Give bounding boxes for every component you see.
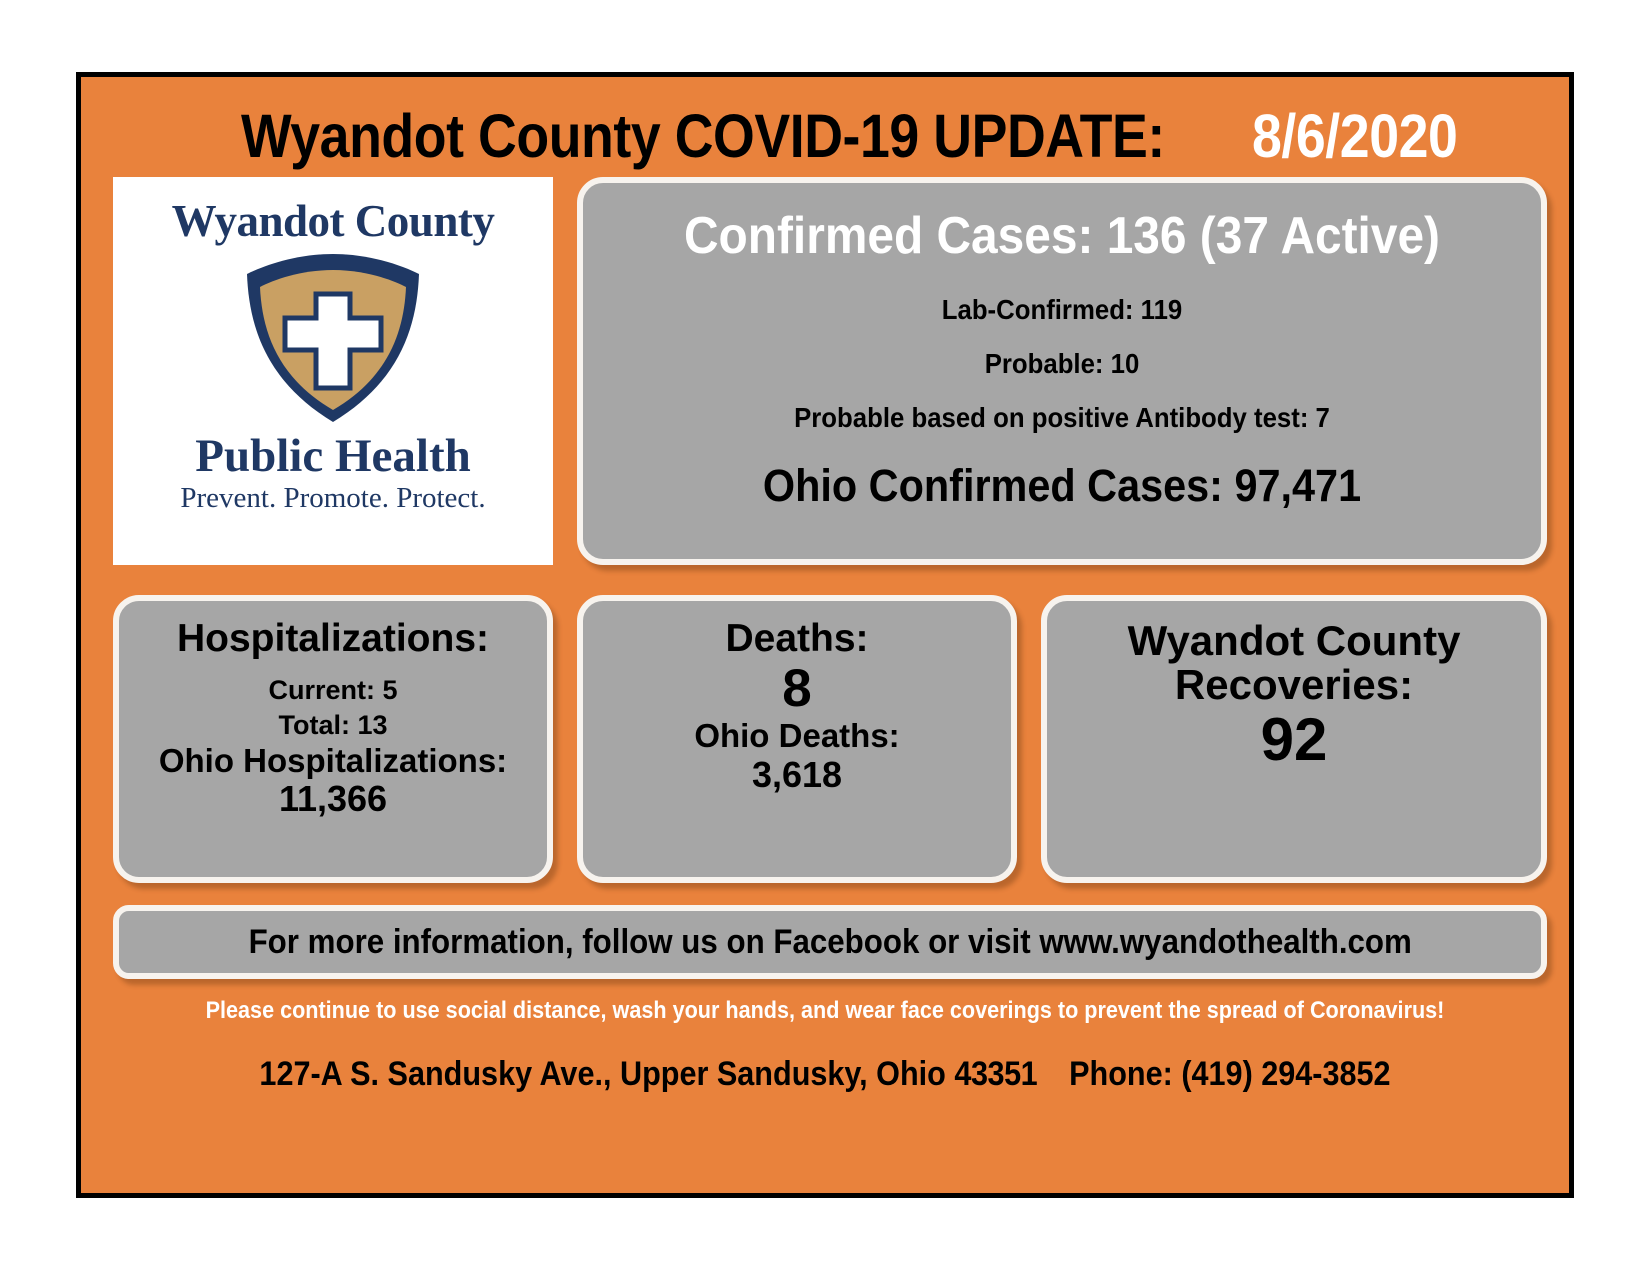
confirmed-cases-card: Confirmed Cases: 136 (37 Active) Lab-Con… bbox=[577, 177, 1547, 565]
logo-line-2: Public Health bbox=[195, 433, 470, 480]
hospitalizations-card: Hospitalizations: Current: 5 Total: 13 O… bbox=[113, 595, 553, 883]
ohio-hospitalizations-label: Ohio Hospitalizations: bbox=[119, 743, 547, 779]
ohio-confirmed-cases-line: Ohio Confirmed Cases: 97,471 bbox=[642, 460, 1483, 512]
recoveries-title-line-1: Wyandot County bbox=[1047, 619, 1541, 663]
lab-confirmed-line: Lab-Confirmed: 119 bbox=[642, 294, 1483, 326]
ohio-deaths-value: 3,618 bbox=[583, 755, 1011, 795]
hospitalizations-title: Hospitalizations: bbox=[119, 619, 547, 660]
contact-phone: Phone: (419) 294-3852 bbox=[1069, 1055, 1390, 1093]
poster-frame: Wyandot County COVID-19 UPDATE:8/6/2020 … bbox=[76, 72, 1574, 1198]
deaths-card: Deaths: 8 Ohio Deaths: 3,618 bbox=[577, 595, 1017, 883]
logo-line-1: Wyandot County bbox=[172, 199, 495, 244]
probable-line: Probable: 10 bbox=[642, 348, 1483, 380]
more-information-text: For more information, follow us on Faceb… bbox=[248, 923, 1411, 962]
public-health-notice: Please continue to use social distance, … bbox=[155, 997, 1494, 1025]
contact-address-line: 127-A S. Sandusky Ave., Upper Sandusky, … bbox=[155, 1055, 1494, 1094]
page-title-date: 8/6/2020 bbox=[1252, 101, 1457, 171]
logo-tagline: Prevent. Promote. Protect. bbox=[180, 482, 485, 515]
page-title: Wyandot County COVID-19 UPDATE:8/6/2020 bbox=[81, 101, 1569, 171]
shield-cross-icon bbox=[237, 250, 429, 431]
ohio-deaths-label: Ohio Deaths: bbox=[583, 718, 1011, 754]
recoveries-value: 92 bbox=[1047, 707, 1541, 773]
recoveries-title-line-2: Recoveries: bbox=[1047, 663, 1541, 707]
hospitalizations-current: Current: 5 bbox=[119, 673, 547, 708]
page-title-text: Wyandot County COVID-19 UPDATE: bbox=[241, 101, 1165, 171]
deaths-title: Deaths: bbox=[583, 619, 1011, 660]
probable-antibody-line: Probable based on positive Antibody test… bbox=[642, 402, 1483, 434]
recoveries-card: Wyandot County Recoveries: 92 bbox=[1041, 595, 1547, 883]
more-information-bar: For more information, follow us on Faceb… bbox=[113, 905, 1547, 979]
deaths-value: 8 bbox=[583, 660, 1011, 718]
address-street: 127-A S. Sandusky Ave., Upper Sandusky, … bbox=[259, 1055, 945, 1093]
hospitalizations-total: Total: 13 bbox=[119, 708, 547, 743]
confirmed-cases-headline: Confirmed Cases: 136 (37 Active) bbox=[642, 209, 1483, 264]
address-zip: 43351 bbox=[954, 1055, 1037, 1093]
ohio-hospitalizations-value: 11,366 bbox=[119, 779, 547, 819]
agency-logo: Wyandot County Public Health Prevent. Pr… bbox=[113, 177, 553, 565]
